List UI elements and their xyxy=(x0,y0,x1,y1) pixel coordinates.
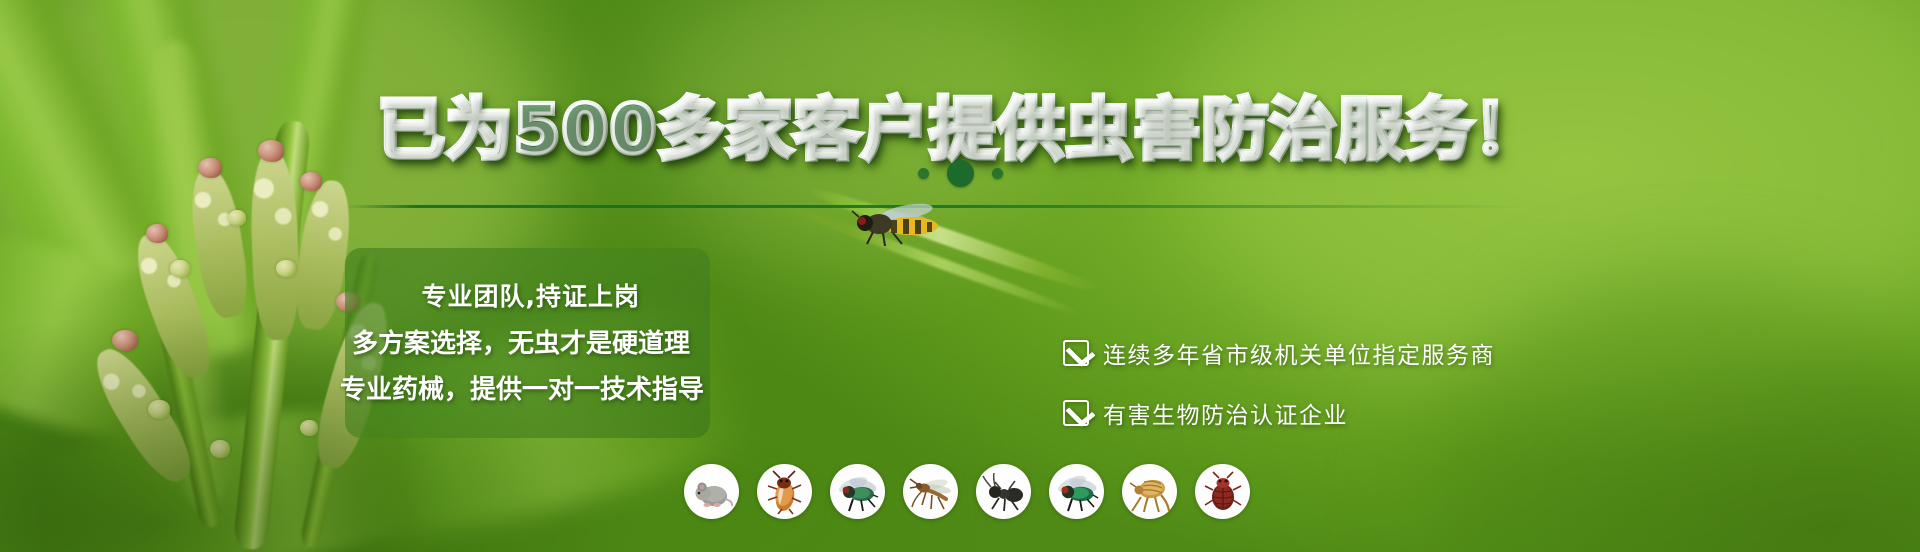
bullet-item: 连续多年省市级机关单位指定服务商 xyxy=(1063,336,1495,370)
banner-headline: 已为500多家客户提供虫害防治服务！ 已为500多家客户提供虫害防治服务！ xyxy=(0,76,1920,172)
dot-small-left xyxy=(918,168,929,179)
promo-banner: 已为500多家客户提供虫害防治服务！ 已为500多家客户提供虫害防治服务！ 专业… xyxy=(0,0,1920,552)
hoverfly-icon xyxy=(845,196,955,256)
slogan-panel: 专业团队,持证上岗 多方案选择，无虫才是硬道理 专业药械，提供一对一技术指导 xyxy=(345,248,710,438)
fly-icon[interactable] xyxy=(830,464,885,519)
headline-text: 已为500多家客户提供虫害防治服务！ xyxy=(378,76,1542,172)
flea-icon[interactable] xyxy=(1122,464,1177,519)
pest-icon-row xyxy=(684,464,1250,519)
dot-large-center xyxy=(947,160,974,187)
dot-small-right xyxy=(992,168,1003,179)
check-square-icon xyxy=(1063,400,1089,426)
blowfly-icon[interactable] xyxy=(1049,464,1104,519)
slogan-line-2: 多方案选择，无虫才是硬道理 xyxy=(352,331,690,357)
feature-bullets: 连续多年省市级机关单位指定服务商 有害生物防治认证企业 xyxy=(1063,336,1495,456)
slogan-line-1: 专业团队,持证上岗 xyxy=(422,284,641,309)
slogan-line-3: 专业药械，提供一对一技术指导 xyxy=(340,377,704,403)
mosquito-icon[interactable] xyxy=(903,464,958,519)
bullet-item: 有害生物防治认证企业 xyxy=(1063,396,1495,430)
ant-icon[interactable] xyxy=(976,464,1031,519)
check-square-icon xyxy=(1063,340,1089,366)
cockroach-icon[interactable] xyxy=(757,464,812,519)
bullet-label: 连续多年省市级机关单位指定服务商 xyxy=(1103,336,1495,370)
bullet-label: 有害生物防治认证企业 xyxy=(1103,396,1348,430)
bedbug-icon[interactable] xyxy=(1195,464,1250,519)
mouse-icon[interactable] xyxy=(684,464,739,519)
decorative-dots xyxy=(0,160,1920,187)
